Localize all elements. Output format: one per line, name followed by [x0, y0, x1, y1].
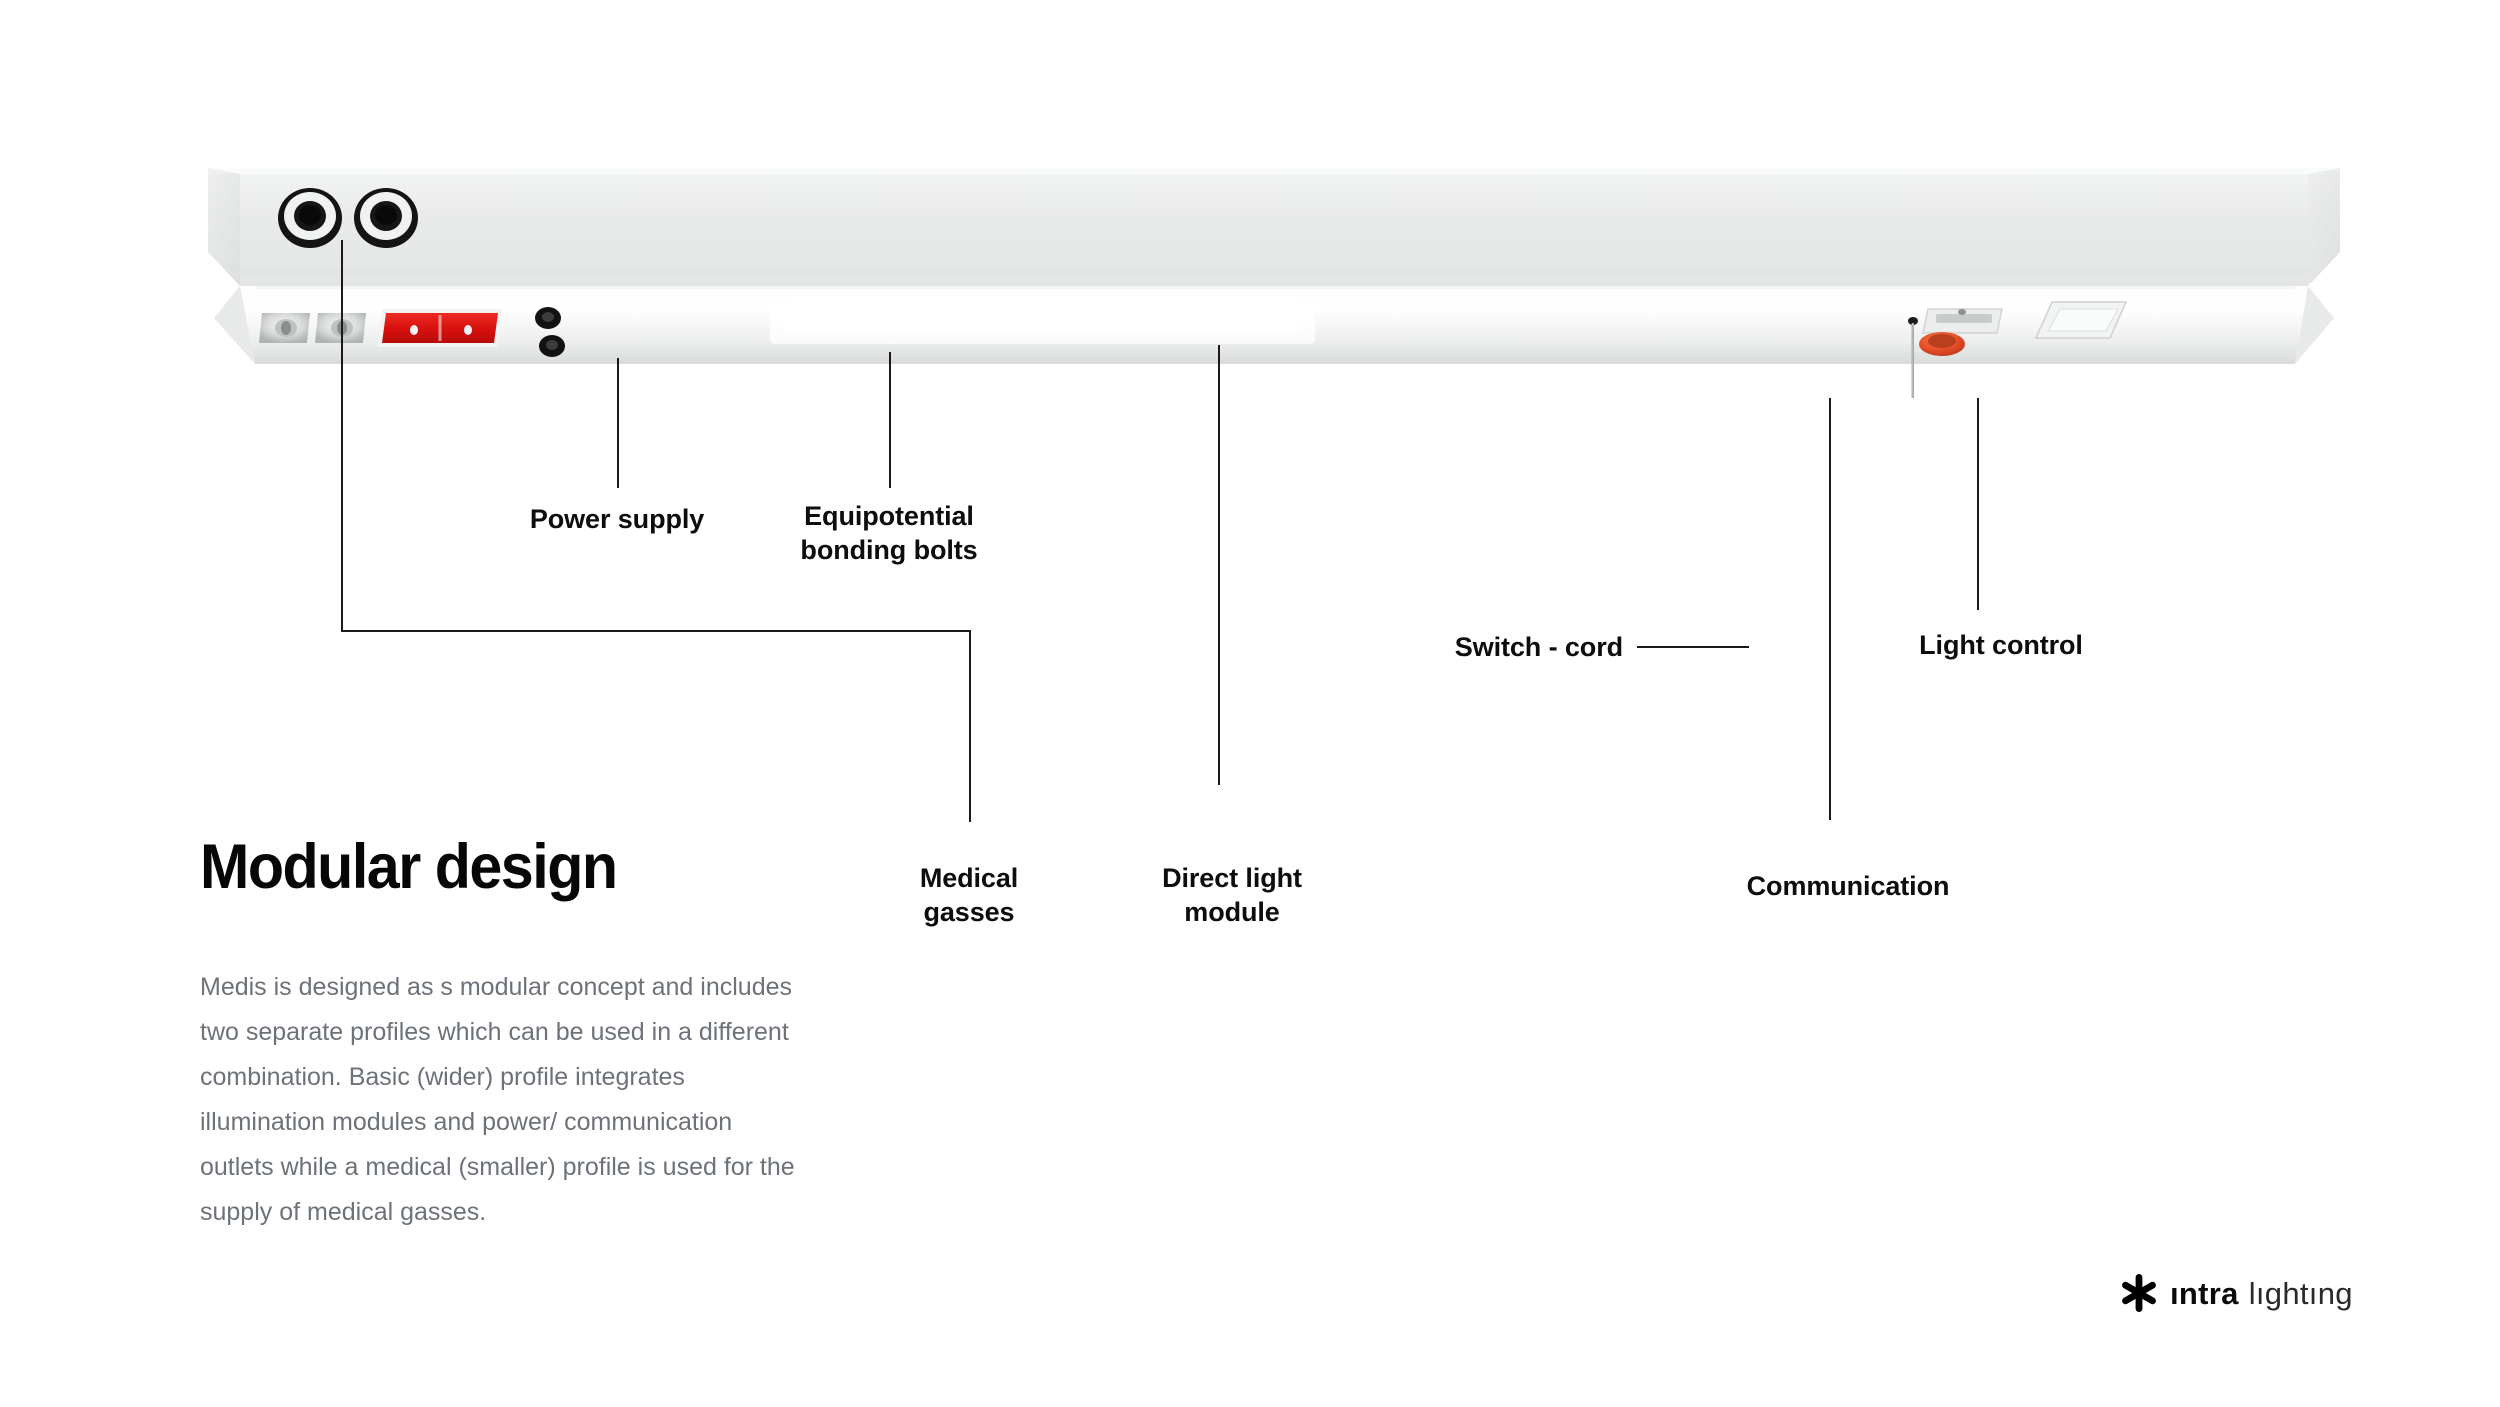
leader-medical-gasses-drop — [969, 630, 971, 822]
callout-direct-light-module: Direct light module — [1162, 861, 1302, 929]
medical-gas-outlet — [354, 188, 418, 248]
leader-medical-gasses-stub — [341, 240, 343, 632]
page-canvas: Power supply Equipotential bonding bolts… — [0, 0, 2500, 1407]
callout-switch-cord: Switch - cord — [1455, 630, 1623, 664]
product-rail-illustration — [200, 168, 2350, 396]
leader-switch-cord — [1637, 646, 1749, 648]
leader-medical-gasses-elbow — [341, 630, 971, 632]
direct-light-module — [770, 292, 1315, 344]
callout-power-supply: Power supply — [530, 502, 704, 536]
leader-light-control — [1977, 398, 1979, 610]
leader-equipotential — [889, 352, 891, 488]
rail-upper-face — [208, 168, 2340, 286]
callout-equipotential-bonding-bolts: Equipotential bonding bolts — [800, 499, 977, 567]
brand-word-lighting: lıghtıng — [2249, 1276, 2353, 1311]
brand-word-intra: ıntra — [2170, 1276, 2239, 1311]
body-paragraph: Medis is designed as s modular concept a… — [200, 965, 800, 1235]
asterisk-icon — [2122, 1274, 2156, 1312]
leader-communication — [1829, 398, 1831, 820]
callout-light-control: Light control — [1919, 628, 2083, 662]
leader-power-supply — [617, 358, 619, 488]
callout-medical-gasses: Medical gasses — [920, 861, 1018, 929]
leader-direct-light-module — [1218, 345, 1220, 785]
power-socket-group-red — [377, 309, 502, 347]
medical-gas-outlet — [278, 188, 342, 248]
brand-wordmark: ıntralıghtıng — [2170, 1278, 2353, 1309]
callout-communication: Communication — [1747, 869, 1950, 903]
brand-logo: ıntralıghtıng — [2122, 1274, 2353, 1312]
light-control-panel — [2036, 302, 2126, 338]
page-title: Modular design — [200, 832, 617, 902]
